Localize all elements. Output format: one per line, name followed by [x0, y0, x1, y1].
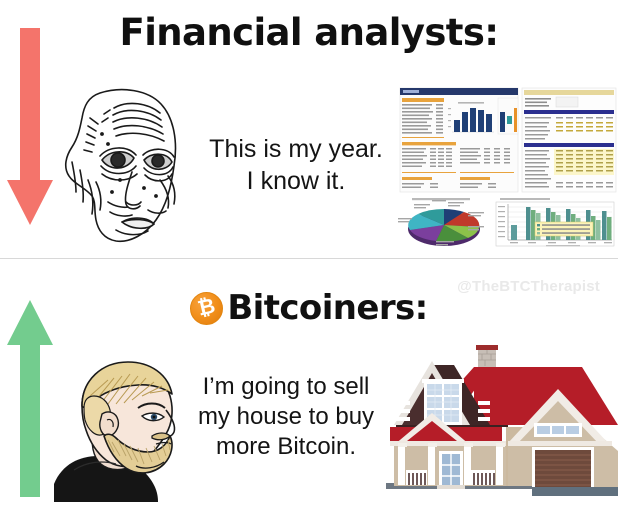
sad-old-wojak-illustration	[56, 84, 188, 248]
bitcoin-symbol: ₿	[196, 295, 217, 319]
panel-top-heading: Financial analysts:	[0, 14, 618, 51]
watermark: @TheBTCTherapist	[457, 278, 600, 295]
panel-bottom-quote: I’m going to sell my house to buy more B…	[172, 372, 400, 463]
up-arrow-icon	[6, 300, 54, 497]
panel-bottom-heading: Bitcoiners:	[227, 291, 427, 325]
nordic-chad-wojak-illustration	[52, 352, 188, 502]
down-arrow-icon	[6, 28, 54, 226]
panel-top-quote: This is my year. I know it.	[178, 134, 414, 197]
bitcoin-logo-icon: ₿	[190, 292, 223, 325]
panel-bottom-heading-row: ₿ Bitcoiners:	[0, 291, 618, 325]
meme-image: Financial analysts:	[0, 0, 618, 514]
house-illustration	[382, 341, 618, 499]
financial-dashboard-illustration	[396, 86, 618, 248]
panel-financial-analysts: Financial analysts:	[0, 0, 618, 258]
